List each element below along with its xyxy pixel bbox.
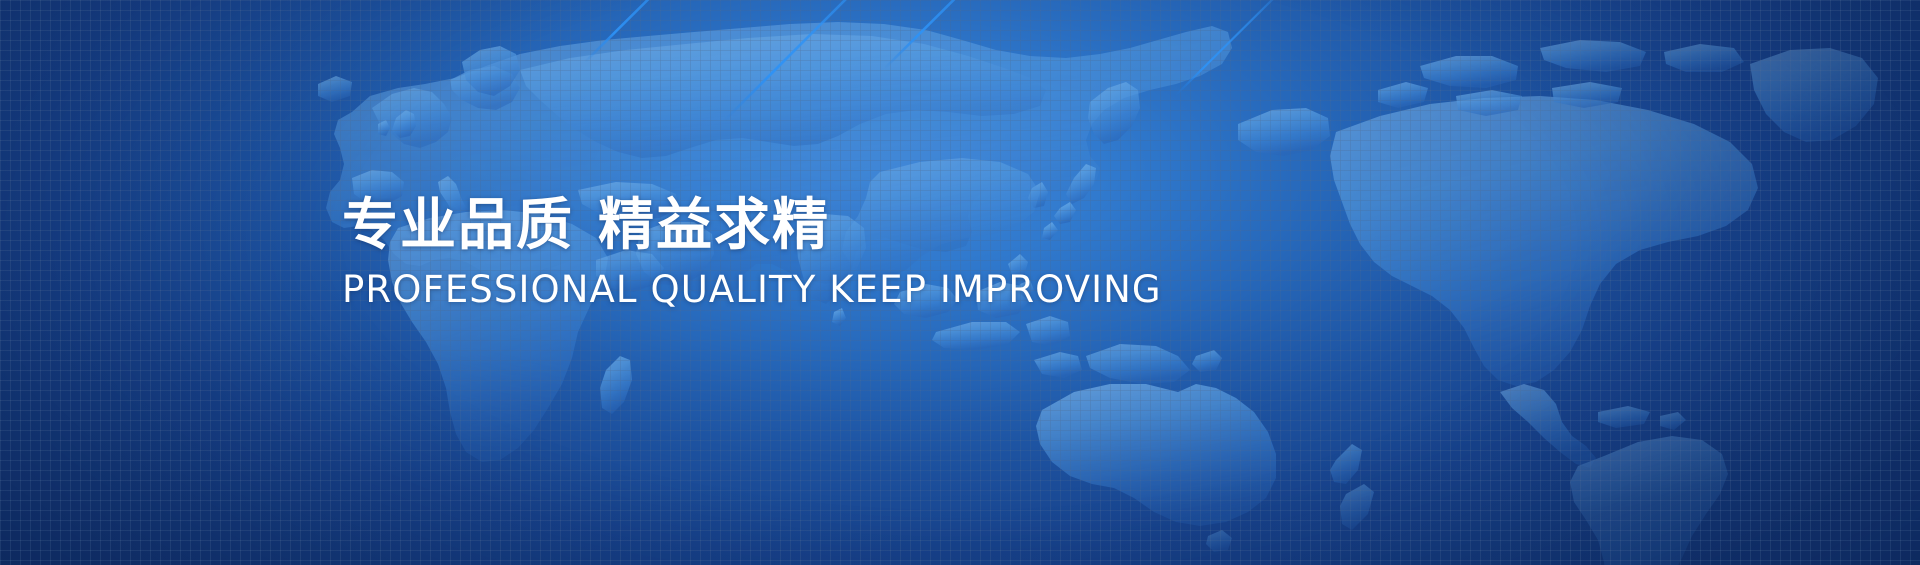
streak-1 — [585, 0, 700, 62]
headline-chinese: 专业品质精益求精 — [342, 196, 1162, 256]
streak-3 — [885, 0, 1010, 68]
streak-4 — [1175, 0, 1290, 96]
headline-english: PROFESSIONAL QUALITY KEEP IMPROVING — [342, 268, 1162, 311]
headline-chinese-part1: 专业品质 — [342, 193, 574, 258]
headline-chinese-part2: 精益求精 — [598, 193, 830, 258]
hero-banner: 专业品质精益求精 PROFESSIONAL QUALITY KEEP IMPRO… — [0, 0, 1920, 565]
headline-text-block: 专业品质精益求精 PROFESSIONAL QUALITY KEEP IMPRO… — [342, 196, 1162, 311]
streak-2 — [725, 0, 905, 120]
